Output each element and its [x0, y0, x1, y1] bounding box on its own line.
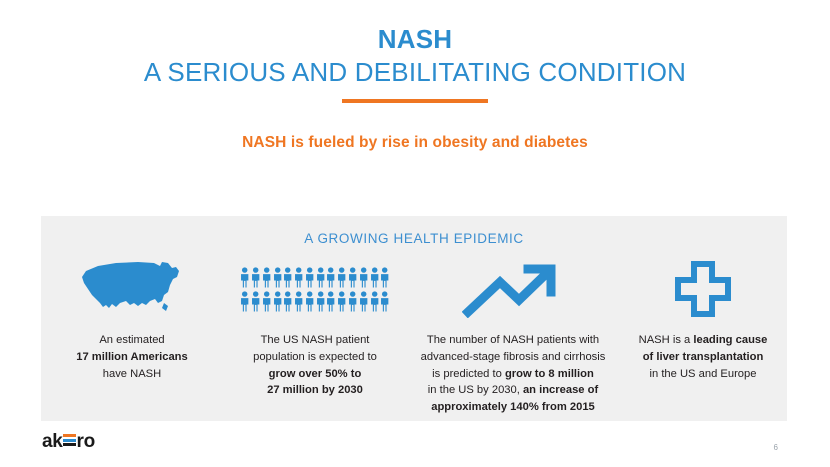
caption-line: in the US by 2030, an increase of	[413, 382, 613, 399]
people-group-icon	[229, 258, 401, 320]
people-pictogram	[240, 267, 390, 312]
title-block: NASH A SERIOUS AND DEBILITATING CONDITIO…	[0, 26, 830, 103]
stat-column-growth: The US NASH patient population is expect…	[223, 258, 407, 399]
logo-e-glyph-icon	[63, 433, 76, 447]
section-subtitle: NASH is fueled by rise in obesity and di…	[0, 134, 830, 152]
caption-line: The US NASH patient	[229, 332, 401, 349]
caption-text: NASH is a	[639, 334, 694, 346]
slide-canvas: NASH A SERIOUS AND DEBILITATING CONDITIO…	[0, 0, 830, 467]
caption-line: approximately 140% from 2015	[413, 399, 613, 416]
caption-line: The number of NASH patients with	[413, 332, 613, 349]
stat-column-fibrosis: The number of NASH patients withadvanced…	[407, 258, 619, 416]
epidemic-panel: A GROWING HEALTH EPIDEMIC An estimated 1…	[41, 216, 787, 421]
medical-cross-icon	[625, 258, 781, 320]
caption-line: in the US and Europe	[625, 366, 781, 383]
page-number: 6	[774, 443, 778, 452]
caption-line: population is expected to	[229, 349, 401, 366]
caption-line: is predicted to grow to 8 million	[413, 366, 613, 383]
caption-text: is predicted to	[432, 368, 505, 380]
caption-line: An estimated	[47, 332, 217, 349]
stat-caption-transplant: NASH is a leading causeof liver transpla…	[625, 332, 781, 382]
people-row	[240, 291, 390, 312]
panel-heading: A GROWING HEALTH EPIDEMIC	[41, 231, 787, 246]
stat-column-transplant: NASH is a leading causeof liver transpla…	[619, 258, 787, 382]
caption-emphasis: an increase of	[523, 384, 598, 396]
caption-text: advanced-stage fibrosis and cirrhosis	[421, 351, 606, 363]
caption-line-bold: 27 million by 2030	[229, 382, 401, 399]
caption-emphasis: leading cause	[693, 334, 767, 346]
caption-line: of liver transplantation	[625, 349, 781, 366]
stat-column-prevalence: An estimated 17 million Americans have N…	[41, 258, 223, 382]
caption-text: The number of NASH patients with	[427, 334, 599, 346]
caption-line: NASH is a leading cause	[625, 332, 781, 349]
trend-up-arrow-icon	[413, 258, 613, 320]
caption-text: in the US by 2030,	[428, 384, 523, 396]
akero-logo: akro	[42, 431, 95, 453]
logo-bar-dark	[63, 443, 76, 446]
caption-line: have NASH	[47, 366, 217, 383]
stat-caption-growth: The US NASH patient population is expect…	[229, 332, 401, 399]
caption-emphasis: grow to 8 million	[505, 368, 594, 380]
caption-text: in the US and Europe	[650, 368, 757, 380]
caption-emphasis: of liver transplantation	[643, 351, 764, 363]
page-subtitle: A SERIOUS AND DEBILITATING CONDITION	[0, 56, 830, 89]
logo-bar-orange	[63, 434, 76, 437]
us-map-icon	[47, 258, 217, 320]
caption-line: advanced-stage fibrosis and cirrhosis	[413, 349, 613, 366]
caption-line-bold: 17 million Americans	[47, 349, 217, 366]
page-title: NASH	[0, 26, 830, 53]
logo-text-part1: ak	[42, 431, 63, 453]
people-row	[240, 267, 390, 288]
title-underline-rule	[342, 99, 488, 103]
logo-text-part2: ro	[77, 431, 95, 453]
caption-emphasis: approximately 140% from 2015	[431, 401, 595, 413]
stat-caption-fibrosis: The number of NASH patients withadvanced…	[413, 332, 613, 416]
stat-columns: An estimated 17 million Americans have N…	[41, 258, 787, 416]
stat-caption-prevalence: An estimated 17 million Americans have N…	[47, 332, 217, 382]
logo-bar-blue	[63, 439, 76, 442]
caption-line-bold: grow over 50% to	[229, 366, 401, 383]
